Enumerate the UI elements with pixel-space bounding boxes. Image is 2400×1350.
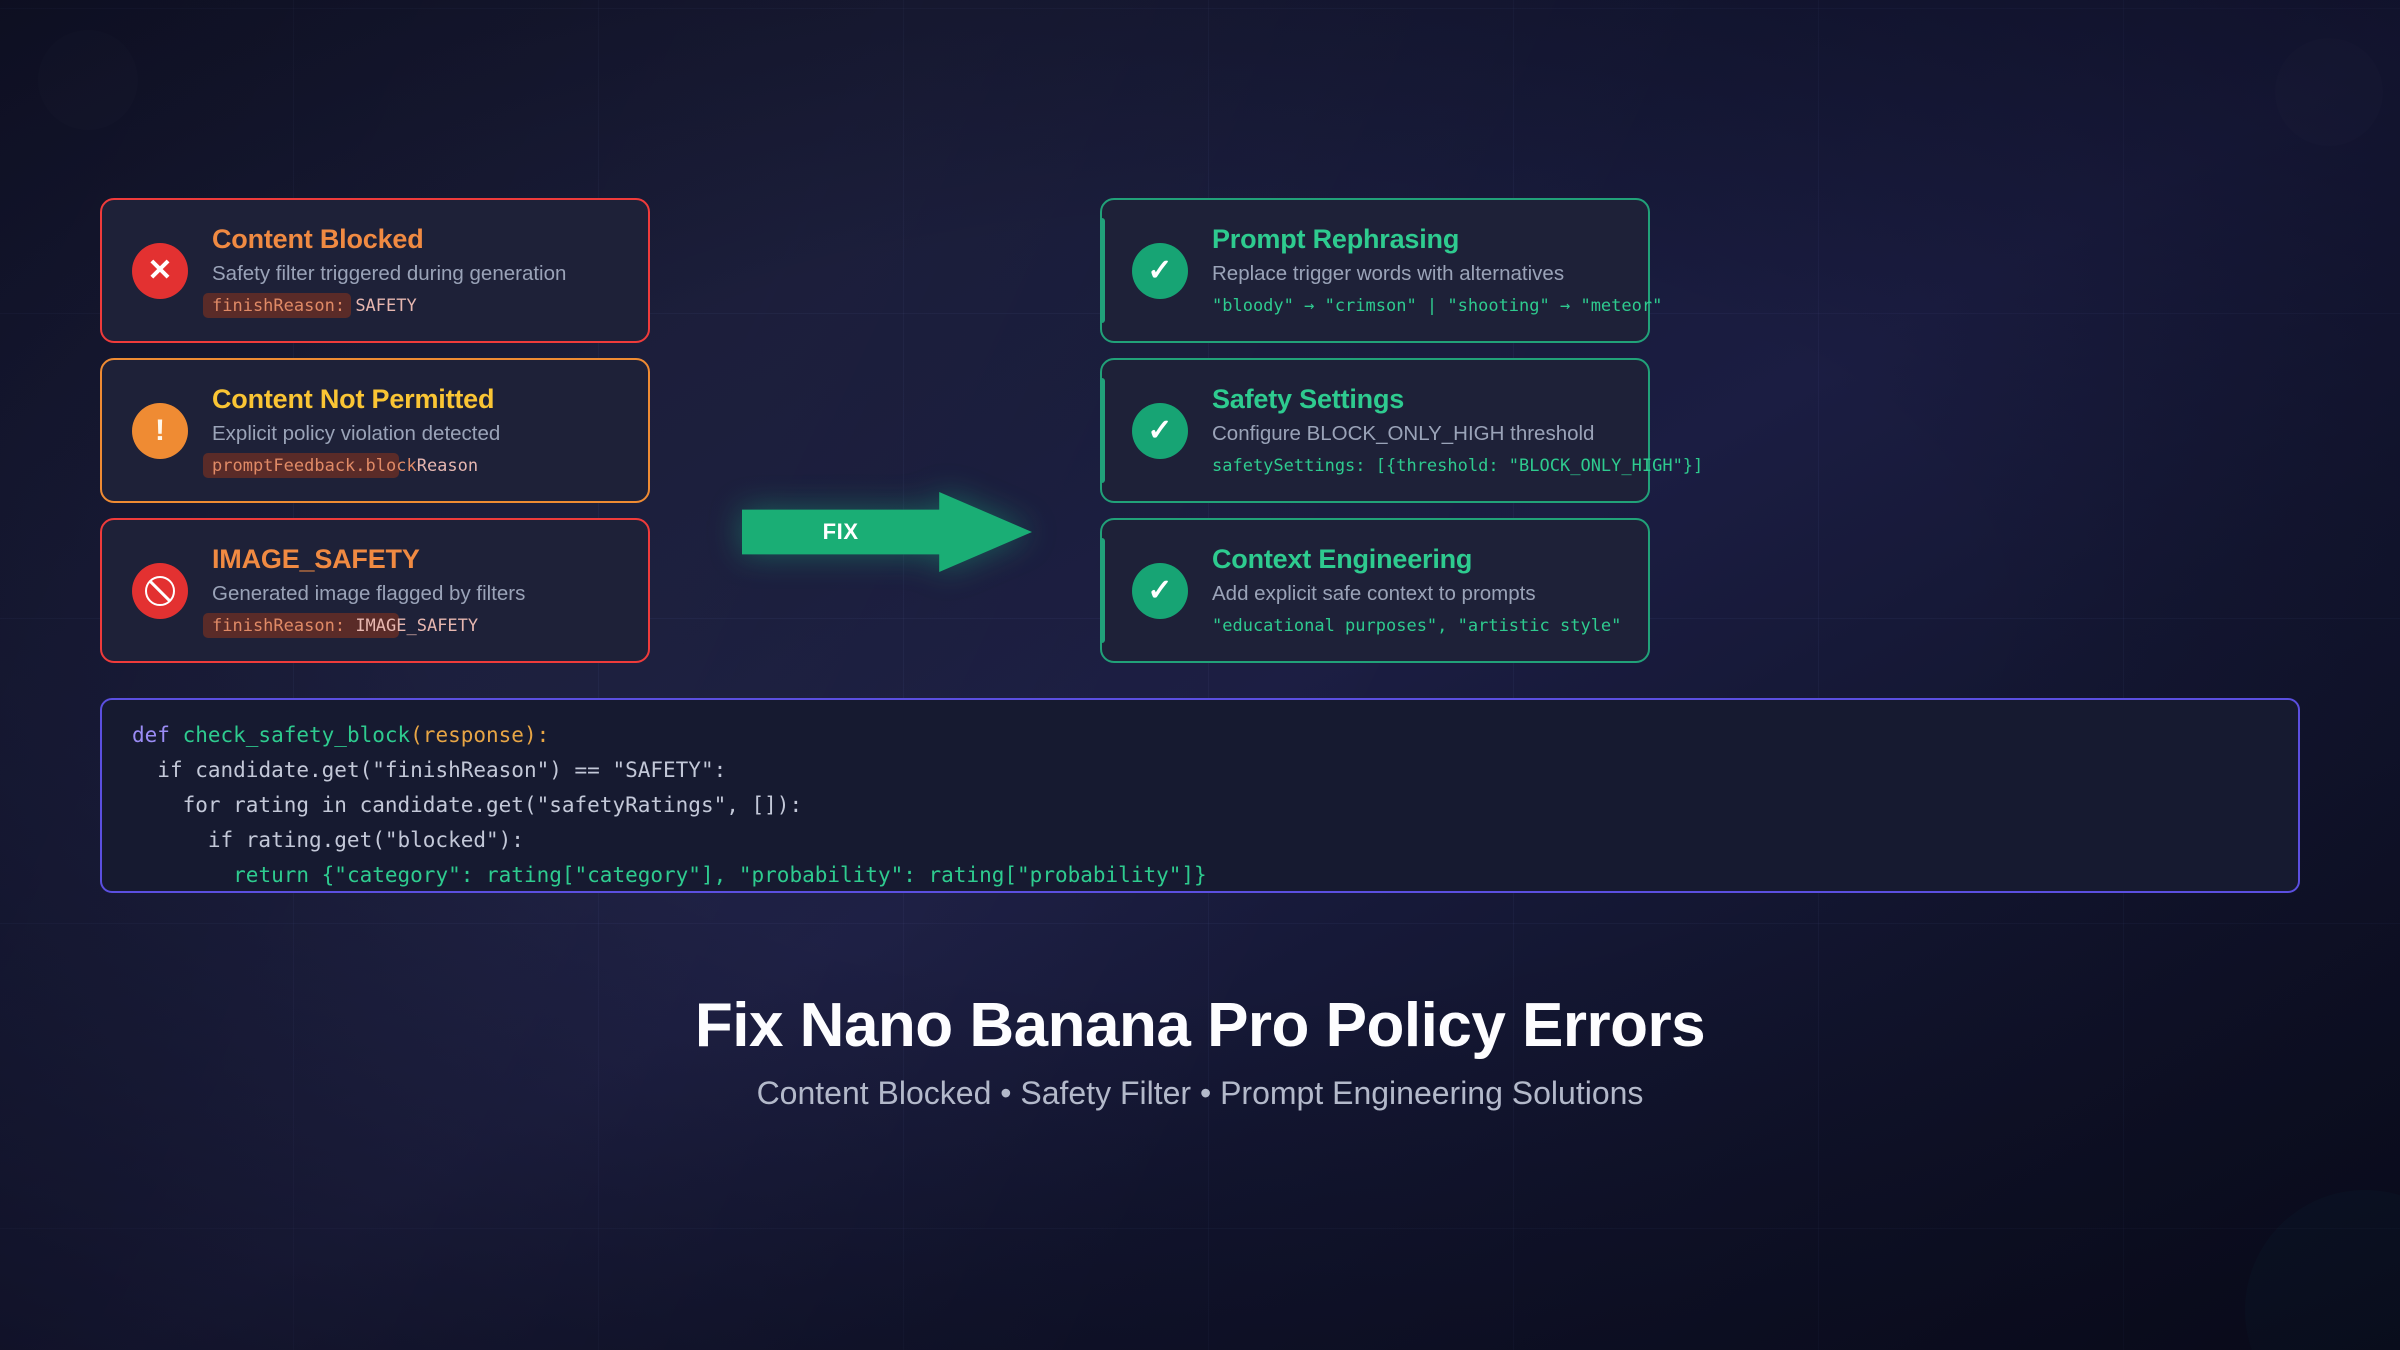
error-card-content-blocked: ✕ Content Blocked Safety filter triggere… xyxy=(100,198,650,343)
page-subtitle: Content Blocked • Safety Filter • Prompt… xyxy=(0,1075,2400,1112)
code-token: (response) xyxy=(410,723,536,747)
error-card-content-not-permitted: ! Content Not Permitted Explicit policy … xyxy=(100,358,650,503)
code-line: return {"category": rating["category"], … xyxy=(132,858,2298,893)
exclamation-icon: ! xyxy=(132,403,188,459)
solution-card-context-engineering: ✓ Context Engineering Add explicit safe … xyxy=(1100,518,1650,663)
error-card-title: Content Not Permitted xyxy=(212,384,632,415)
code-token: def xyxy=(132,723,183,747)
page-title: Fix Nano Banana Pro Policy Errors xyxy=(0,990,2400,1061)
error-card-code: finishReason: IMAGE_SAFETY xyxy=(212,616,632,637)
check-mark-icon: ✓ xyxy=(1132,563,1188,619)
code-token: for rating in candidate.get("safetyRatin… xyxy=(183,793,803,817)
code-snippet-panel: def check_safety_block(response): if can… xyxy=(100,698,2300,893)
code-lines: def check_safety_block(response): if can… xyxy=(132,718,2298,893)
solution-card-code: safetySettings: [{threshold: "BLOCK_ONLY… xyxy=(1212,456,1632,477)
solution-accent-bar xyxy=(1102,538,1105,643)
error-card-body: IMAGE_SAFETY Generated image flagged by … xyxy=(212,544,648,637)
infographic-stage: ✕ Content Blocked Safety filter triggere… xyxy=(0,0,2400,1350)
code-line: if candidate.get("finishReason") == "SAF… xyxy=(132,753,2298,788)
solution-card-body: Context Engineering Add explicit safe co… xyxy=(1212,544,1648,637)
prohibited-icon xyxy=(132,563,188,619)
solution-card-description: Add explicit safe context to prompts xyxy=(1212,582,1632,607)
solution-card-title: Context Engineering xyxy=(1212,544,1632,575)
code-token: if rating.get("blocked"): xyxy=(208,828,524,852)
error-card-image-safety: IMAGE_SAFETY Generated image flagged by … xyxy=(100,518,650,663)
solution-card-body: Safety Settings Configure BLOCK_ONLY_HIG… xyxy=(1212,384,1648,477)
error-code-value: IMAGE_SAFETY xyxy=(355,616,478,636)
error-code-key: finishReason: xyxy=(212,616,345,636)
error-card-code: promptFeedback.blockReason xyxy=(212,456,632,477)
fix-arrow-icon: FIX xyxy=(742,492,1032,572)
check-mark-icon: ✓ xyxy=(1132,243,1188,299)
error-code-value: SAFETY xyxy=(355,296,416,316)
code-token: : xyxy=(537,723,550,747)
solution-card-body: Prompt Rephrasing Replace trigger words … xyxy=(1212,224,1648,317)
solution-card-description: Configure BLOCK_ONLY_HIGH threshold xyxy=(1212,422,1632,447)
error-card-description: Generated image flagged by filters xyxy=(212,582,632,607)
error-card-title: IMAGE_SAFETY xyxy=(212,544,632,575)
error-code-key: promptFeedback.block xyxy=(212,456,417,476)
solution-card-description: Replace trigger words with alternatives xyxy=(1212,262,1632,287)
error-card-code: finishReason: SAFETY xyxy=(212,296,632,317)
solution-card-prompt-rephrasing: ✓ Prompt Rephrasing Replace trigger word… xyxy=(1100,198,1650,343)
solution-accent-bar xyxy=(1102,378,1105,483)
solution-accent-bar xyxy=(1102,218,1105,323)
solution-card-title: Prompt Rephrasing xyxy=(1212,224,1632,255)
error-card-body: Content Not Permitted Explicit policy vi… xyxy=(212,384,648,477)
solution-card-code: "educational purposes", "artistic style" xyxy=(1212,616,1632,637)
solution-card-title: Safety Settings xyxy=(1212,384,1632,415)
code-token: check_safety_block xyxy=(183,723,411,747)
error-code-value: Reason xyxy=(417,456,478,476)
error-card-body: Content Blocked Safety filter triggered … xyxy=(212,224,648,317)
code-token: return {"category": rating["category"], … xyxy=(233,863,1207,887)
code-line: for rating in candidate.get("safetyRatin… xyxy=(132,788,2298,823)
error-card-description: Safety filter triggered during generatio… xyxy=(212,262,632,287)
code-token: if candidate.get("finishReason") == "SAF… xyxy=(157,758,726,782)
x-mark-icon: ✕ xyxy=(132,243,188,299)
error-card-title: Content Blocked xyxy=(212,224,632,255)
error-card-description: Explicit policy violation detected xyxy=(212,422,632,447)
code-line: def check_safety_block(response): xyxy=(132,718,2298,753)
arrow-label: FIX xyxy=(742,492,939,572)
check-mark-icon: ✓ xyxy=(1132,403,1188,459)
error-code-key: finishReason: xyxy=(212,296,345,316)
code-line: if rating.get("blocked"): xyxy=(132,823,2298,858)
solution-card-code: "bloody" → "crimson" | "shooting" → "met… xyxy=(1212,296,1632,317)
solution-card-safety-settings: ✓ Safety Settings Configure BLOCK_ONLY_H… xyxy=(1100,358,1650,503)
